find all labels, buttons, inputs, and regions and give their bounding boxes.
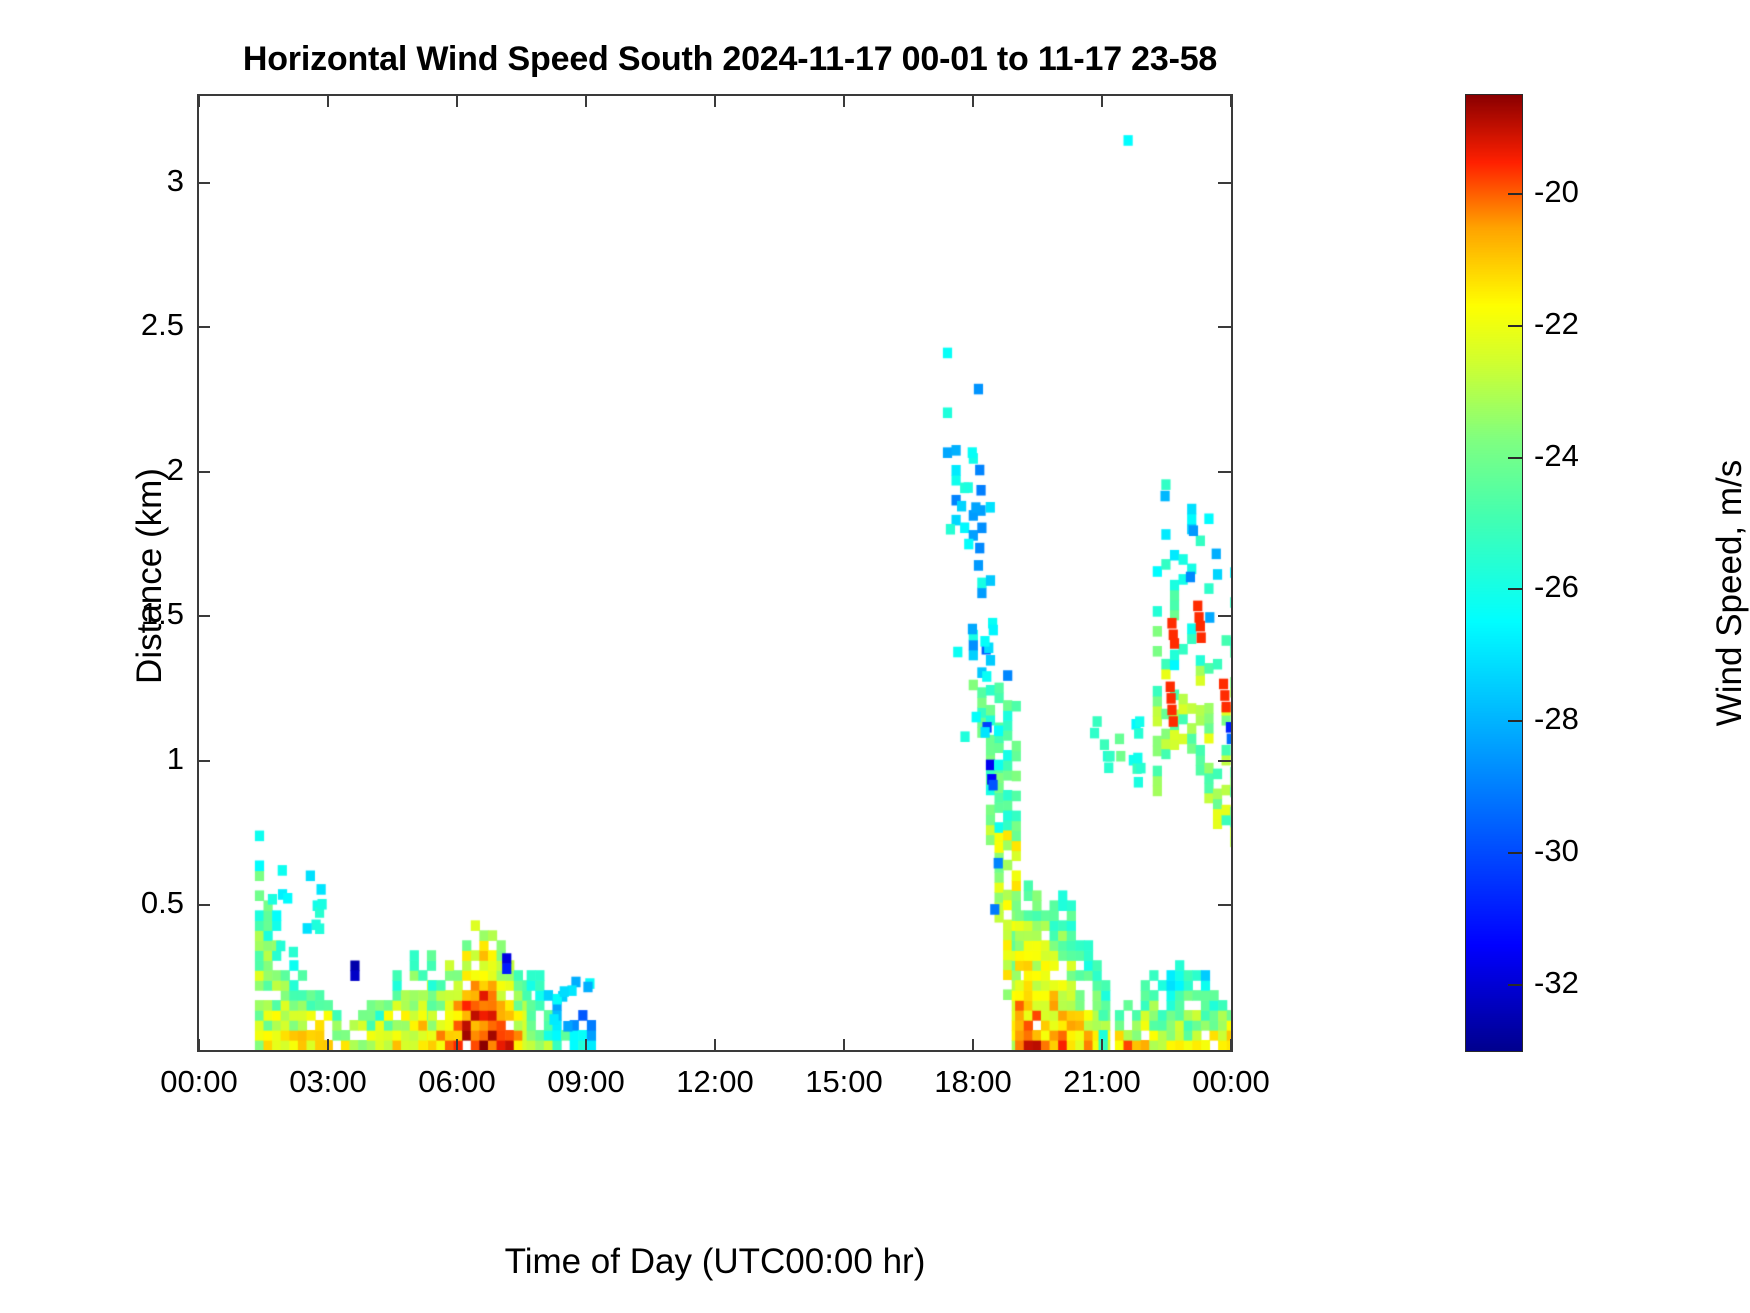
y-tick-2.5 bbox=[197, 326, 210, 328]
colorbar-tick--22 bbox=[1508, 325, 1522, 327]
colorbar bbox=[1465, 94, 1523, 1052]
x-tick-00-00 bbox=[198, 94, 200, 107]
y-axis-label: Distance (km) bbox=[130, 96, 170, 1056]
x-tick-15-00 bbox=[843, 94, 845, 107]
x-tick-00-00 bbox=[1230, 94, 1232, 107]
y-tick-1 bbox=[197, 760, 210, 762]
colorbar-tick-label: -22 bbox=[1534, 306, 1579, 342]
colorbar-label: Wind Speed, m/s bbox=[1710, 243, 1750, 943]
y-tick-1.5 bbox=[1218, 615, 1231, 617]
y-tick-0.5 bbox=[197, 904, 210, 906]
x-tick-12-00 bbox=[714, 94, 716, 107]
figure-canvas: Horizontal Wind Speed South 2024-11-17 0… bbox=[0, 0, 1750, 1313]
y-tick-0.5 bbox=[1218, 904, 1231, 906]
x-tick-03-00 bbox=[327, 1039, 329, 1052]
colorbar-tick-label: -26 bbox=[1534, 569, 1579, 605]
x-axis-label: Time of Day (UTC00:00 hr) bbox=[197, 1242, 1233, 1282]
y-tick-3 bbox=[1218, 182, 1231, 184]
colorbar-tick-label: -32 bbox=[1534, 965, 1579, 1001]
colorbar-tick--28 bbox=[1508, 720, 1522, 722]
x-tick-label: 00:00 bbox=[1151, 1064, 1311, 1100]
x-tick-15-00 bbox=[843, 1039, 845, 1052]
y-tick-2 bbox=[1218, 471, 1231, 473]
x-tick-18-00 bbox=[972, 1039, 974, 1052]
x-tick-21-00 bbox=[1101, 94, 1103, 107]
x-tick-00-00 bbox=[198, 1039, 200, 1052]
y-tick-2.5 bbox=[1218, 326, 1231, 328]
colorbar-tick-label: -24 bbox=[1534, 438, 1579, 474]
y-tick-1.5 bbox=[197, 615, 210, 617]
x-tick-06-00 bbox=[456, 94, 458, 107]
colorbar-tick--20 bbox=[1508, 193, 1522, 195]
x-tick-21-00 bbox=[1101, 1039, 1103, 1052]
colorbar-tick--26 bbox=[1508, 588, 1522, 590]
plot-axes bbox=[197, 94, 1233, 1052]
colorbar-gradient bbox=[1466, 95, 1522, 1051]
page-title: Horizontal Wind Speed South 2024-11-17 0… bbox=[0, 40, 1460, 79]
heatmap-data-layer bbox=[199, 96, 1231, 1050]
y-tick-1 bbox=[1218, 760, 1231, 762]
colorbar-tick-label: -20 bbox=[1534, 174, 1579, 210]
y-tick-2 bbox=[197, 471, 210, 473]
x-tick-09-00 bbox=[585, 1039, 587, 1052]
x-tick-09-00 bbox=[585, 94, 587, 107]
colorbar-tick--32 bbox=[1508, 984, 1522, 986]
colorbar-tick-label: -30 bbox=[1534, 833, 1579, 869]
x-tick-00-00 bbox=[1230, 1039, 1232, 1052]
y-tick-3 bbox=[197, 182, 210, 184]
x-tick-12-00 bbox=[714, 1039, 716, 1052]
x-tick-03-00 bbox=[327, 94, 329, 107]
x-tick-06-00 bbox=[456, 1039, 458, 1052]
colorbar-tick--30 bbox=[1508, 852, 1522, 854]
colorbar-tick-label: -28 bbox=[1534, 701, 1579, 737]
x-tick-18-00 bbox=[972, 94, 974, 107]
colorbar-tick--24 bbox=[1508, 457, 1522, 459]
